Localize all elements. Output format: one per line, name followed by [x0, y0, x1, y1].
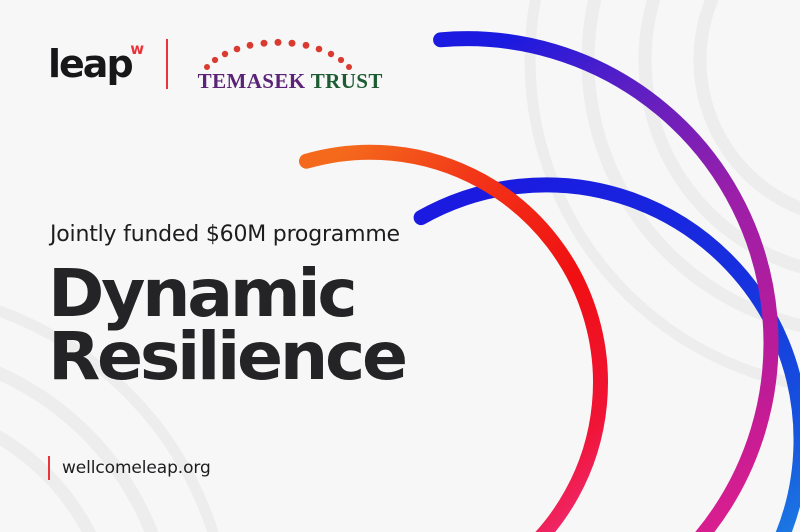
temasek-trust-logo: TEMASEK TRUST [198, 36, 374, 92]
url-accent-bar [48, 456, 50, 480]
temasek-word: TEMASEK [198, 69, 306, 93]
headline-line-1: Dynamic [48, 262, 405, 325]
poster-canvas: leapw [0, 0, 800, 532]
logo-row: leapw [48, 36, 374, 92]
url-text[interactable]: wellcomeleap.org [62, 458, 211, 478]
poster-content: leapw [0, 0, 800, 532]
footer-url[interactable]: wellcomeleap.org [48, 455, 211, 481]
temasek-dot-arc-icon [198, 36, 374, 70]
programme-eyebrow: Jointly funded $60M programme [50, 222, 400, 247]
leap-wordmark: leap [48, 45, 132, 83]
wellcome-leap-logo: leapw [48, 45, 132, 83]
leap-superscript-w: w [130, 42, 143, 57]
trust-word: TRUST [311, 69, 383, 93]
page-title: Dynamic Resilience [48, 262, 405, 389]
headline-line-2: Resilience [48, 325, 405, 388]
temasek-trust-wordmark: TEMASEK TRUST [198, 71, 374, 92]
logo-divider [166, 39, 168, 89]
